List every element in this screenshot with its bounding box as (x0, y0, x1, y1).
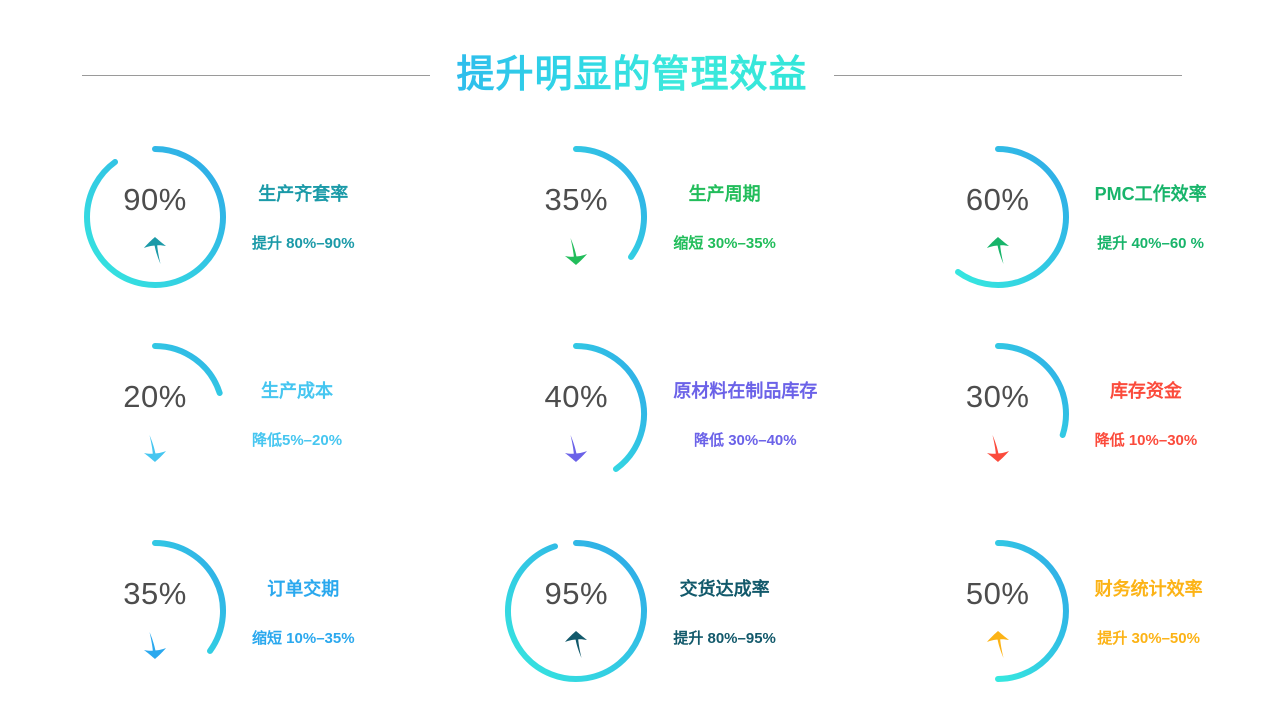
gauge-raw-material-wip-inventory: 40% (497, 335, 655, 493)
metric-labels-inventory-capital: 库存资金降低 10%–30% (1095, 377, 1198, 450)
metric-subtitle-inventory-capital: 降低 10%–30% (1095, 429, 1198, 450)
arrow-down-icon (985, 433, 1011, 463)
metric-cell-inventory-capital: 30%库存资金降低 10%–30% (843, 315, 1264, 512)
metric-cell-order-lead-time: 35%订单交期缩短 10%–35% (0, 513, 421, 710)
metric-labels-finance-statistics-efficiency: 财务统计效率提升 30%–50% (1095, 575, 1203, 648)
gauge-finance-statistics-efficiency: 50% (919, 532, 1077, 690)
metric-cell-delivery-achievement-rate: 95%交货达成率提升 80%–95% (421, 513, 842, 710)
gauge-value-finance-statistics-efficiency: 50% (919, 576, 1077, 612)
gauge-pmc-work-efficiency: 60% (919, 138, 1077, 296)
metric-cell-pmc-work-efficiency: 60%PMC工作效率提升 40%–60 % (843, 118, 1264, 315)
metric-subtitle-pmc-work-efficiency: 提升 40%–60 % (1097, 232, 1204, 253)
metric-title-inventory-capital: 库存资金 (1110, 377, 1182, 403)
gauge-value-pmc-work-efficiency: 60% (919, 182, 1077, 218)
gauge-value-raw-material-wip-inventory: 40% (497, 379, 655, 415)
metric-title-production-cost: 生产成本 (261, 377, 333, 403)
gauge-value-production-cycle: 35% (497, 182, 655, 218)
arrow-up-icon (985, 630, 1011, 660)
arrow-up-icon (142, 236, 168, 266)
metric-cell-finance-statistics-efficiency: 50%财务统计效率提升 30%–50% (843, 513, 1264, 710)
metric-labels-pmc-work-efficiency: PMC工作效率提升 40%–60 % (1095, 180, 1207, 253)
metric-labels-order-lead-time: 订单交期缩短 10%–35% (252, 575, 355, 648)
metric-cell-production-kitting-rate: 90%生产齐套率提升 80%–90% (0, 118, 421, 315)
metric-labels-production-cost: 生产成本降低5%–20% (252, 377, 342, 450)
metric-title-delivery-achievement-rate: 交货达成率 (680, 575, 770, 601)
metric-labels-production-cycle: 生产周期缩短 30%–35% (673, 180, 776, 253)
arrow-down-icon (142, 433, 168, 463)
metric-labels-production-kitting-rate: 生产齐套率提升 80%–90% (252, 180, 355, 253)
metric-labels-delivery-achievement-rate: 交货达成率提升 80%–95% (673, 575, 776, 648)
metric-subtitle-production-cost: 降低5%–20% (252, 429, 342, 450)
arrow-down-icon (563, 236, 589, 266)
gauge-production-cycle: 35% (497, 138, 655, 296)
slide-canvas: 提升明显的管理效益 90%生产齐套率提升 80%–90%35%生产周期缩短 30… (0, 0, 1264, 710)
metric-subtitle-finance-statistics-efficiency: 提升 30%–50% (1097, 627, 1200, 648)
metric-subtitle-production-cycle: 缩短 30%–35% (673, 232, 776, 253)
gauge-production-kitting-rate: 90% (76, 138, 234, 296)
metric-title-production-cycle: 生产周期 (689, 180, 761, 206)
slide-header: 提升明显的管理效益 (0, 48, 1264, 102)
header-rule-left (82, 75, 430, 76)
header-rule-right (834, 75, 1182, 76)
arrow-up-icon (985, 236, 1011, 266)
metric-cell-production-cost: 20%生产成本降低5%–20% (0, 315, 421, 512)
metric-title-pmc-work-efficiency: PMC工作效率 (1095, 180, 1207, 206)
metric-subtitle-raw-material-wip-inventory: 降低 30%–40% (694, 429, 797, 450)
metric-title-raw-material-wip-inventory: 原材料在制品库存 (673, 377, 817, 403)
arrow-up-icon (563, 630, 589, 660)
page-title: 提升明显的管理效益 (430, 48, 833, 102)
arrow-down-icon (563, 433, 589, 463)
gauge-delivery-achievement-rate: 95% (497, 532, 655, 690)
metric-title-finance-statistics-efficiency: 财务统计效率 (1095, 575, 1203, 601)
metric-subtitle-production-kitting-rate: 提升 80%–90% (252, 232, 355, 253)
metrics-grid: 90%生产齐套率提升 80%–90%35%生产周期缩短 30%–35%60%PM… (0, 118, 1264, 710)
metric-cell-production-cycle: 35%生产周期缩短 30%–35% (421, 118, 842, 315)
metric-subtitle-delivery-achievement-rate: 提升 80%–95% (673, 627, 776, 648)
gauge-inventory-capital: 30% (919, 335, 1077, 493)
metric-subtitle-order-lead-time: 缩短 10%–35% (252, 627, 355, 648)
gauge-order-lead-time: 35% (76, 532, 234, 690)
metric-cell-raw-material-wip-inventory: 40%原材料在制品库存降低 30%–40% (421, 315, 842, 512)
gauge-value-production-kitting-rate: 90% (76, 182, 234, 218)
gauge-value-order-lead-time: 35% (76, 576, 234, 612)
metric-title-order-lead-time: 订单交期 (267, 575, 339, 601)
gauge-production-cost: 20% (76, 335, 234, 493)
gauge-value-production-cost: 20% (76, 379, 234, 415)
arrow-down-icon (142, 630, 168, 660)
gauge-value-delivery-achievement-rate: 95% (497, 576, 655, 612)
metric-title-production-kitting-rate: 生产齐套率 (258, 180, 348, 206)
gauge-value-inventory-capital: 30% (919, 379, 1077, 415)
metric-labels-raw-material-wip-inventory: 原材料在制品库存降低 30%–40% (673, 377, 817, 450)
